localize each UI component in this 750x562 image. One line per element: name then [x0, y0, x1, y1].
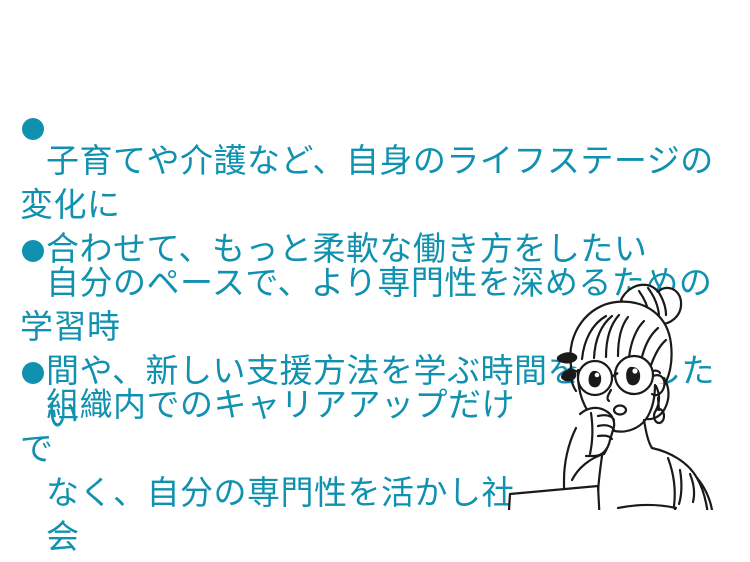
slide-canvas: 子育てや介護など、自身のライフステージの変化に 合わせて、もっと柔軟な働き方をし… [0, 0, 750, 562]
sleeve-folds [679, 470, 694, 504]
filled-circle-bullet-icon [20, 72, 46, 98]
filled-circle-bullet-icon [20, 194, 46, 220]
mouth [614, 406, 626, 415]
woman-thinking-at-laptop-illustration [498, 258, 750, 510]
hand-on-chin [580, 408, 614, 456]
filled-circle-bullet-icon [20, 316, 46, 342]
bullet-line-2: なく、自分の専門性を活かし社会 [20, 471, 520, 559]
thought-marks [557, 352, 577, 381]
bullet-line-1: 組織内でのキャリアアップだけで [20, 385, 515, 468]
bullet-item: 組織内でのキャリアアップだけで なく、自分の専門性を活かし社会 貢献できる働き方… [20, 272, 520, 562]
